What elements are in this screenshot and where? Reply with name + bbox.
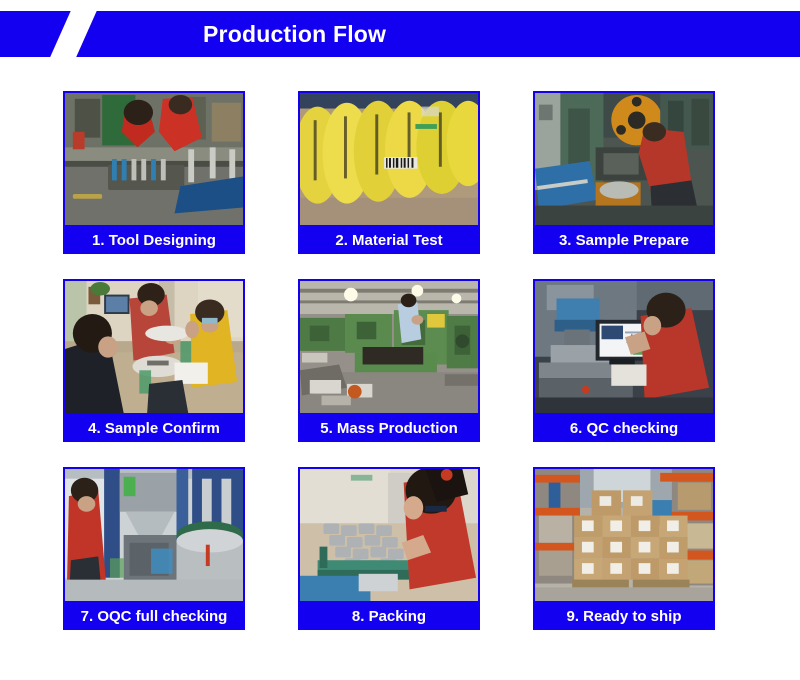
step-photo-1	[63, 91, 245, 227]
packing-photo-icon	[300, 469, 478, 601]
material-test-photo-icon	[300, 93, 478, 225]
step-card-1[interactable]: 1. Tool Designing	[63, 91, 245, 254]
step-photo-5	[298, 279, 480, 415]
step-card-6[interactable]: 6. QC checking	[533, 279, 715, 442]
step-photo-2	[298, 91, 480, 227]
step-caption-6: 6. QC checking	[533, 415, 715, 442]
step-caption-9: 9. Ready to ship	[533, 603, 715, 630]
tool-designing-photo-icon	[65, 93, 243, 225]
mass-production-photo-icon	[300, 281, 478, 413]
step-photo-7	[63, 467, 245, 603]
qc-checking-photo-icon	[535, 281, 713, 413]
diagonal-slash-icon	[47, 11, 100, 57]
step-caption-2: 2. Material Test	[298, 227, 480, 254]
step-photo-3	[533, 91, 715, 227]
step-caption-8: 8. Packing	[298, 603, 480, 630]
sample-prepare-photo-icon	[535, 93, 713, 225]
ready-to-ship-photo-icon	[535, 469, 713, 601]
step-card-7[interactable]: 7. OQC full checking	[63, 467, 245, 630]
step-caption-7: 7. OQC full checking	[63, 603, 245, 630]
sample-confirm-photo-icon	[65, 281, 243, 413]
oqc-full-checking-photo-icon	[65, 469, 243, 601]
step-caption-1: 1. Tool Designing	[63, 227, 245, 254]
production-flow-grid: 1. Tool Designing	[63, 91, 737, 630]
step-card-4[interactable]: 4. Sample Confirm	[63, 279, 245, 442]
step-card-5[interactable]: 5. Mass Production	[298, 279, 480, 442]
step-caption-4: 4. Sample Confirm	[63, 415, 245, 442]
step-photo-4	[63, 279, 245, 415]
page-header-banner: Production Flow	[0, 11, 800, 57]
step-caption-3: 3. Sample Prepare	[533, 227, 715, 254]
step-photo-6	[533, 279, 715, 415]
step-caption-5: 5. Mass Production	[298, 415, 480, 442]
step-card-2[interactable]: 2. Material Test	[298, 91, 480, 254]
step-photo-8	[298, 467, 480, 603]
step-photo-9	[533, 467, 715, 603]
step-card-3[interactable]: 3. Sample Prepare	[533, 91, 715, 254]
step-card-8[interactable]: 8. Packing	[298, 467, 480, 630]
page-title: Production Flow	[203, 11, 386, 57]
step-card-9[interactable]: 9. Ready to ship	[533, 467, 715, 630]
